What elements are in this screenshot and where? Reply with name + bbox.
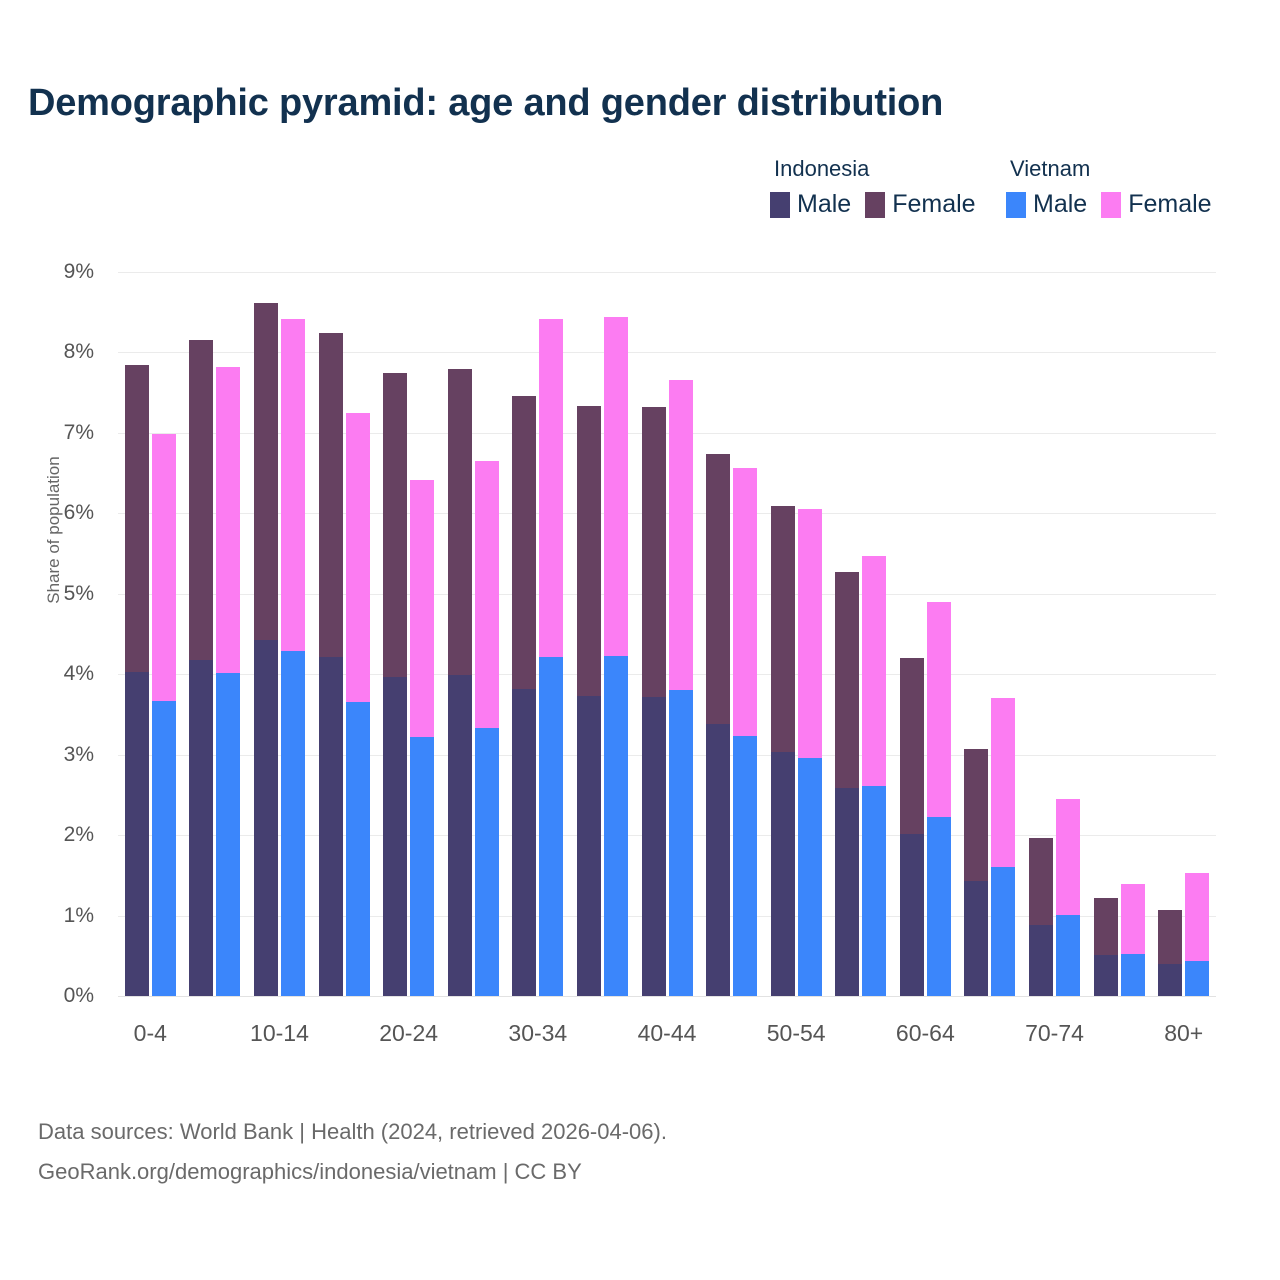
chart-page: Demographic pyramid: age and gender dist… [0,0,1280,1280]
segment-indonesia-female-50-54[interactable] [771,506,795,752]
segment-vietnam-female-5-9[interactable] [216,367,240,673]
bar-vietnam-0-4[interactable] [152,434,176,996]
bar-indonesia-20-24[interactable] [383,373,407,996]
segment-vietnam-female-65-69[interactable] [991,698,1015,868]
segment-indonesia-male-75-79[interactable] [1094,955,1118,996]
bar-vietnam-15-19[interactable] [346,413,370,996]
bar-group-25-29 [448,272,499,996]
segment-indonesia-female-35-39[interactable] [577,406,601,696]
segment-indonesia-male-25-29[interactable] [448,675,472,996]
bar-indonesia-30-34[interactable] [512,396,536,996]
footer-data-sources: Data sources: World Bank | Health (2024,… [38,1112,667,1152]
y-tick-label-9%: 9% [34,260,94,284]
bar-vietnam-10-14[interactable] [281,319,305,996]
segment-vietnam-female-25-29[interactable] [475,461,499,728]
segment-indonesia-male-55-59[interactable] [835,788,859,996]
segment-indonesia-male-40-44[interactable] [642,697,666,996]
segment-vietnam-male-75-79[interactable] [1121,954,1145,996]
x-tick-label-80+: 80+ [1164,1020,1203,1047]
segment-indonesia-female-30-34[interactable] [512,396,536,689]
segment-vietnam-male-70-74[interactable] [1056,915,1080,996]
bar-vietnam-45-49[interactable] [733,468,757,996]
bar-group-20-24 [383,272,434,996]
segment-vietnam-female-30-34[interactable] [539,319,563,657]
x-tick-label-40-44: 40-44 [638,1020,697,1047]
segment-vietnam-male-30-34[interactable] [539,657,563,996]
bar-group-70-74 [1029,272,1080,996]
segment-vietnam-female-50-54[interactable] [798,509,822,758]
segment-vietnam-male-35-39[interactable] [604,656,628,996]
segment-vietnam-female-40-44[interactable] [669,380,693,691]
segment-vietnam-male-50-54[interactable] [798,758,822,996]
segment-vietnam-male-45-49[interactable] [733,736,757,996]
segment-indonesia-female-0-4[interactable] [125,365,149,672]
segment-indonesia-male-65-69[interactable] [964,881,988,996]
segment-indonesia-female-40-44[interactable] [642,407,666,697]
bar-indonesia-70-74[interactable] [1029,838,1053,996]
bar-vietnam-35-39[interactable] [604,317,628,996]
bar-indonesia-55-59[interactable] [835,572,859,996]
segment-indonesia-female-20-24[interactable] [383,373,407,677]
x-tick-label-10-14: 10-14 [250,1020,309,1047]
bar-group-10-14 [254,272,305,996]
bar-group-0-4 [125,272,176,996]
segment-vietnam-male-60-64[interactable] [927,817,951,996]
bar-indonesia-15-19[interactable] [319,333,343,996]
bar-indonesia-5-9[interactable] [189,340,213,996]
bar-vietnam-65-69[interactable] [991,698,1015,996]
y-tick-label-4%: 4% [34,662,94,686]
segment-vietnam-male-25-29[interactable] [475,728,499,996]
x-tick-label-50-54: 50-54 [767,1020,826,1047]
segment-vietnam-female-10-14[interactable] [281,319,305,651]
bar-group-75-79 [1094,272,1145,996]
bar-vietnam-20-24[interactable] [410,480,434,996]
y-tick-label-6%: 6% [34,501,94,525]
segment-indonesia-female-15-19[interactable] [319,333,343,656]
segment-vietnam-female-15-19[interactable] [346,413,370,702]
gridline-0% [118,996,1216,997]
segment-indonesia-female-60-64[interactable] [900,658,924,834]
segment-indonesia-male-20-24[interactable] [383,677,407,996]
segment-vietnam-male-0-4[interactable] [152,701,176,996]
y-tick-label-3%: 3% [34,743,94,767]
segment-vietnam-male-20-24[interactable] [410,737,434,996]
segment-vietnam-male-40-44[interactable] [669,690,693,996]
bar-group-30-34 [512,272,563,996]
segment-indonesia-male-80+[interactable] [1158,964,1182,996]
segment-vietnam-female-0-4[interactable] [152,434,176,701]
bar-group-35-39 [577,272,628,996]
x-tick-label-20-24: 20-24 [379,1020,438,1047]
segment-indonesia-female-55-59[interactable] [835,572,859,788]
segment-indonesia-male-35-39[interactable] [577,696,601,996]
footer-attribution: GeoRank.org/demographics/indonesia/vietn… [38,1152,667,1192]
y-tick-label-0%: 0% [34,984,94,1008]
segment-indonesia-male-50-54[interactable] [771,752,795,996]
plot-area [118,272,1216,996]
segment-indonesia-male-15-19[interactable] [319,657,343,996]
x-tick-label-30-34: 30-34 [508,1020,567,1047]
bar-group-40-44 [642,272,693,996]
bar-vietnam-60-64[interactable] [927,602,951,996]
bar-group-15-19 [319,272,370,996]
bar-group-55-59 [835,272,886,996]
segment-indonesia-male-10-14[interactable] [254,640,278,996]
segment-vietnam-female-55-59[interactable] [862,556,886,786]
bar-vietnam-5-9[interactable] [216,367,240,996]
bar-vietnam-40-44[interactable] [669,380,693,996]
bars-layer [118,272,1216,996]
segment-vietnam-female-70-74[interactable] [1056,799,1080,915]
bar-indonesia-60-64[interactable] [900,658,924,996]
bar-group-60-64 [900,272,951,996]
segment-vietnam-male-5-9[interactable] [216,673,240,996]
y-tick-label-5%: 5% [34,582,94,606]
bar-vietnam-80+[interactable] [1185,873,1209,996]
bar-group-65-69 [964,272,1015,996]
segment-indonesia-male-70-74[interactable] [1029,925,1053,996]
segment-indonesia-male-30-34[interactable] [512,689,536,996]
segment-vietnam-female-60-64[interactable] [927,602,951,817]
x-tick-label-70-74: 70-74 [1025,1020,1084,1047]
bar-group-80+ [1158,272,1209,996]
segment-indonesia-male-0-4[interactable] [125,672,149,996]
segment-indonesia-male-5-9[interactable] [189,660,213,996]
bar-indonesia-80+[interactable] [1158,910,1182,996]
segment-vietnam-male-55-59[interactable] [862,786,886,996]
bar-vietnam-55-59[interactable] [862,556,886,996]
bar-group-5-9 [189,272,240,996]
segment-vietnam-male-15-19[interactable] [346,702,370,996]
bar-vietnam-25-29[interactable] [475,461,499,996]
plot-wrapper: Share of population 0%1%2%3%4%5%6%7%8%9%… [0,0,1280,1280]
segment-indonesia-female-75-79[interactable] [1094,898,1118,955]
segment-vietnam-female-80+[interactable] [1185,873,1209,961]
bar-indonesia-65-69[interactable] [964,749,988,996]
bar-group-50-54 [771,272,822,996]
segment-vietnam-female-75-79[interactable] [1121,884,1145,954]
x-tick-label-60-64: 60-64 [896,1020,955,1047]
y-tick-label-7%: 7% [34,421,94,445]
segment-vietnam-female-20-24[interactable] [410,480,434,737]
segment-indonesia-male-45-49[interactable] [706,724,730,996]
bar-indonesia-25-29[interactable] [448,369,472,996]
segment-vietnam-male-10-14[interactable] [281,651,305,996]
segment-vietnam-male-80+[interactable] [1185,961,1209,996]
bar-indonesia-10-14[interactable] [254,303,278,996]
x-tick-label-0-4: 0-4 [134,1020,167,1047]
segment-indonesia-female-70-74[interactable] [1029,838,1053,925]
y-tick-label-2%: 2% [34,823,94,847]
segment-indonesia-female-65-69[interactable] [964,749,988,881]
segment-indonesia-female-45-49[interactable] [706,454,730,724]
bar-vietnam-30-34[interactable] [539,319,563,996]
bar-indonesia-35-39[interactable] [577,406,601,996]
bar-indonesia-45-49[interactable] [706,454,730,996]
bar-group-45-49 [706,272,757,996]
segment-indonesia-male-60-64[interactable] [900,834,924,996]
segment-indonesia-female-5-9[interactable] [189,340,213,659]
y-tick-label-1%: 1% [34,904,94,928]
segment-indonesia-female-10-14[interactable] [254,303,278,640]
segment-indonesia-female-25-29[interactable] [448,369,472,675]
bar-indonesia-0-4[interactable] [125,365,149,996]
footer: Data sources: World Bank | Health (2024,… [38,1112,667,1192]
bar-indonesia-75-79[interactable] [1094,898,1118,996]
segment-vietnam-female-45-49[interactable] [733,468,757,736]
segment-indonesia-female-80+[interactable] [1158,910,1182,964]
segment-vietnam-female-35-39[interactable] [604,317,628,656]
bar-vietnam-50-54[interactable] [798,509,822,996]
segment-vietnam-male-65-69[interactable] [991,867,1015,996]
bar-vietnam-70-74[interactable] [1056,799,1080,996]
bar-indonesia-40-44[interactable] [642,407,666,996]
y-tick-label-8%: 8% [34,340,94,364]
bar-indonesia-50-54[interactable] [771,506,795,996]
bar-vietnam-75-79[interactable] [1121,884,1145,996]
